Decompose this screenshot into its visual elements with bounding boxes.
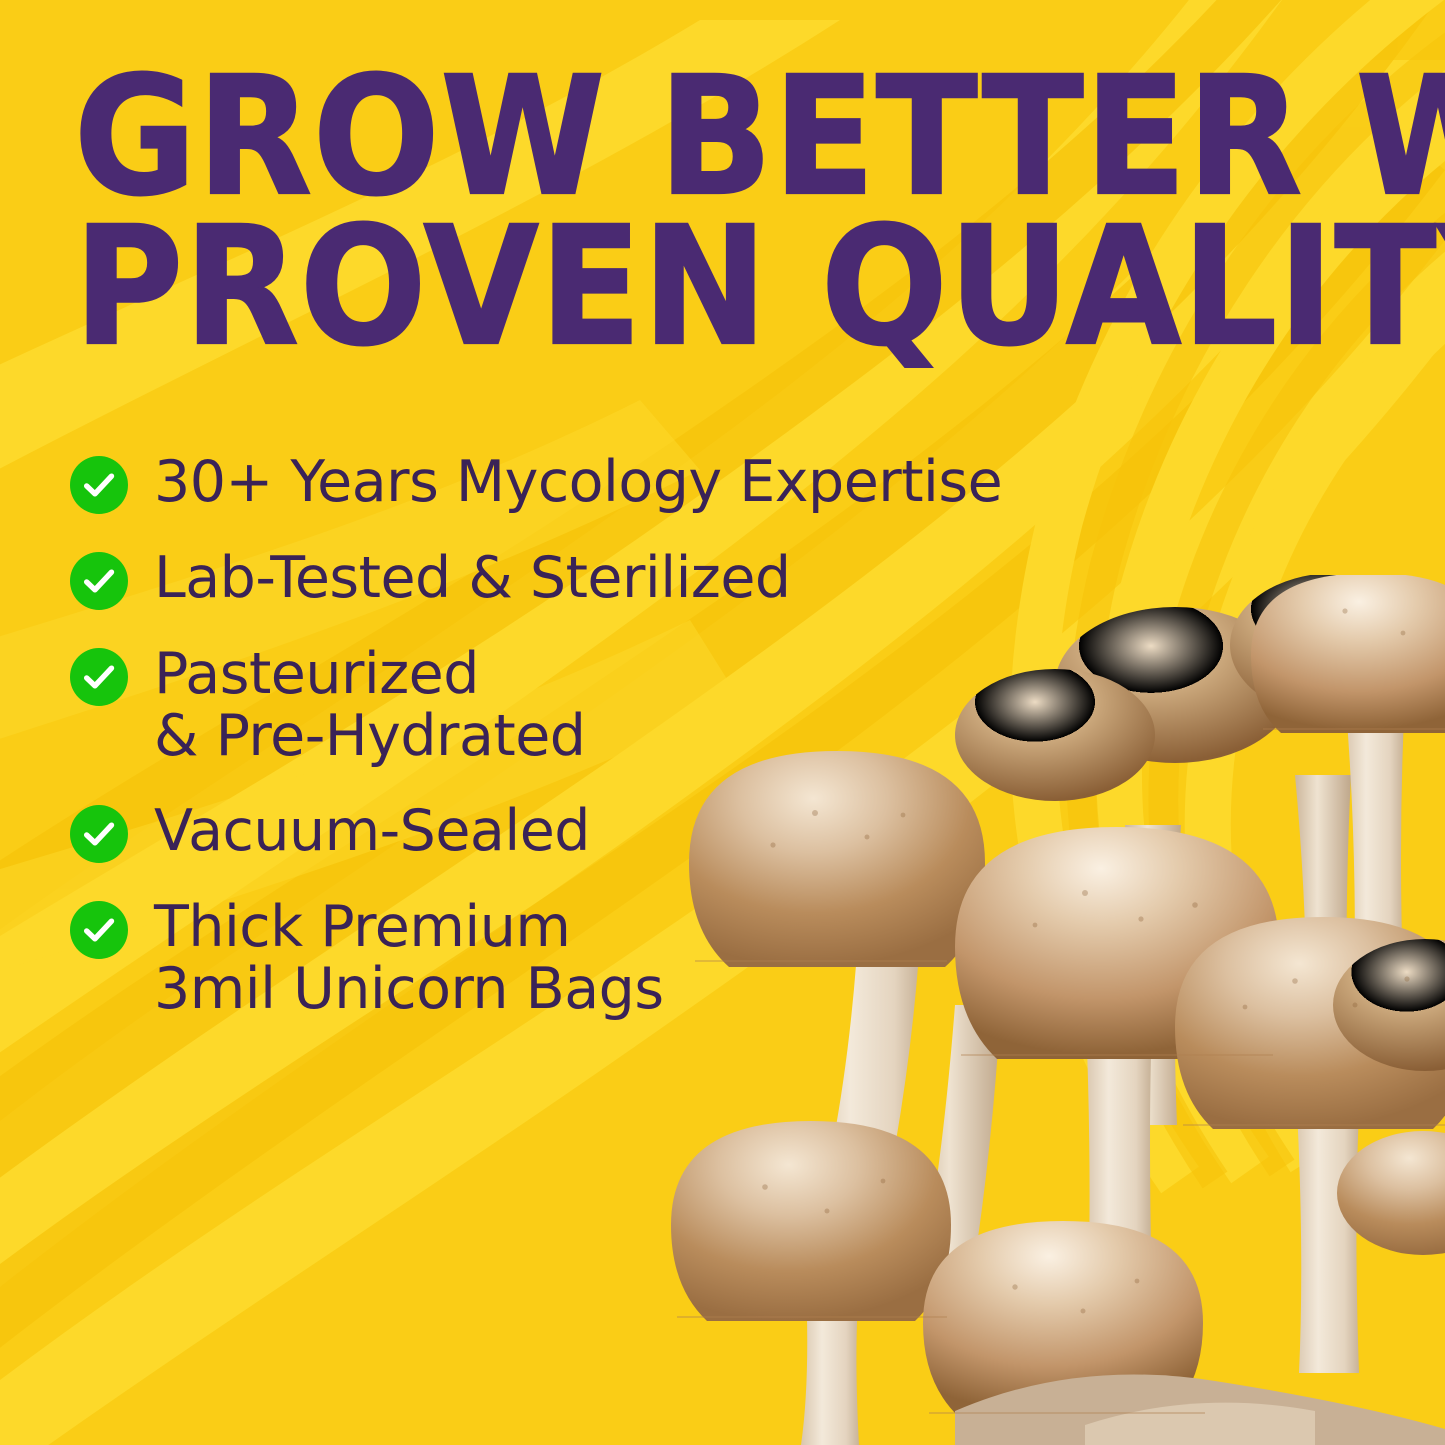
benefit-item-4: Vacuum-Sealed bbox=[70, 801, 1080, 863]
benefit-label-5: Thick Premium 3mil Unicorn Bags bbox=[154, 897, 664, 1020]
promo-poster: Grow Better With Proven Quality 30+ Year… bbox=[0, 0, 1445, 1445]
benefit-item-3: Pasteurized & Pre-Hydrated bbox=[70, 644, 1080, 767]
check-circle-icon bbox=[70, 805, 128, 863]
headline-line-2: Proven Quality bbox=[74, 212, 1400, 362]
check-circle-icon bbox=[70, 648, 128, 706]
benefit-item-5: Thick Premium 3mil Unicorn Bags bbox=[70, 897, 1080, 1020]
check-circle-icon bbox=[70, 456, 128, 514]
page-title: Grow Better With Proven Quality bbox=[74, 62, 1374, 363]
benefit-item-2: Lab-Tested & Sterilized bbox=[70, 548, 1080, 610]
check-circle-icon bbox=[70, 901, 128, 959]
benefit-label-1: 30+ Years Mycology Expertise bbox=[154, 452, 1002, 514]
headline-line-1: Grow Better With bbox=[74, 62, 1400, 212]
benefit-label-4: Vacuum-Sealed bbox=[154, 801, 590, 863]
benefit-label-3: Pasteurized & Pre-Hydrated bbox=[154, 644, 586, 767]
benefit-item-1: 30+ Years Mycology Expertise bbox=[70, 452, 1080, 514]
check-circle-icon bbox=[70, 552, 128, 610]
benefit-label-2: Lab-Tested & Sterilized bbox=[154, 548, 791, 610]
benefits-list: 30+ Years Mycology Expertise Lab-Tested … bbox=[70, 452, 1080, 1020]
